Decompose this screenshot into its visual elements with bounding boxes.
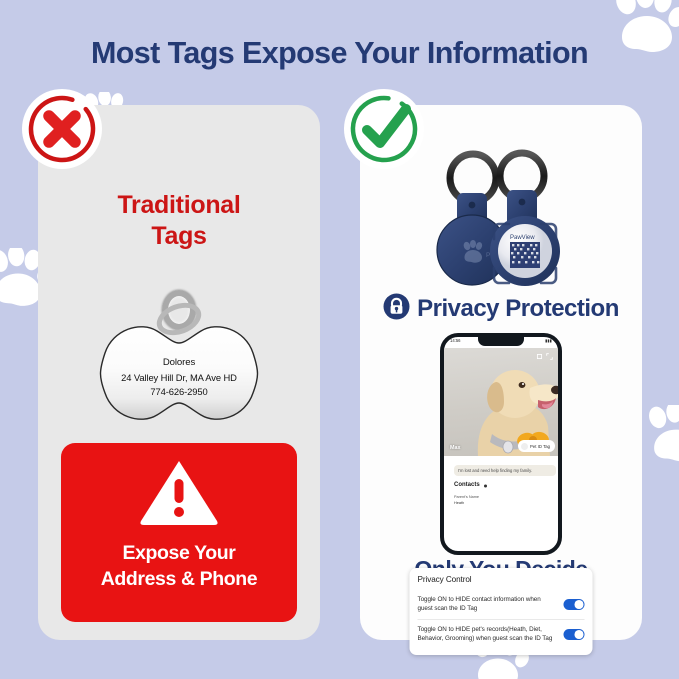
svg-text:PawView: PawView — [510, 235, 535, 241]
hide-pet-records-toggle[interactable] — [564, 629, 585, 641]
share-icon — [536, 353, 543, 360]
contacts-section: Contacts — [454, 482, 488, 488]
expose-warning-line1: Expose Your — [101, 541, 258, 567]
parent-name-label: Parent's Name — [454, 495, 479, 499]
dog-tag-phone: 774-626-2950 — [89, 385, 269, 400]
privacy-control-title: Privacy Control — [418, 575, 585, 584]
phone-notch — [478, 337, 524, 346]
hide-contact-info-toggle[interactable] — [564, 599, 585, 611]
status-icons: ▮▮▮ — [545, 338, 552, 343]
traditional-tags-title-line2: Tags — [38, 221, 320, 252]
traditional-tags-title-line1: Traditional — [38, 190, 320, 221]
expose-warning-text: Expose Your Address & Phone — [101, 541, 258, 593]
pet-name-label: Max — [450, 445, 461, 451]
privacy-protection-heading-text: Privacy Protection — [417, 295, 619, 323]
traditional-tags-panel: Traditional Tags — [38, 105, 320, 640]
pet-id-tag-chip[interactable]: Pet ID Tag — [518, 440, 555, 452]
privacy-control-row[interactable]: Toggle ON to HIDE contact information wh… — [418, 590, 585, 619]
privacy-control-card: Privacy Control Toggle ON to HIDE contac… — [410, 568, 593, 655]
toggle-knob — [574, 630, 583, 639]
page-title: Most Tags Expose Your Information — [0, 36, 679, 71]
expand-icon — [546, 353, 553, 360]
traditional-tags-title: Traditional Tags — [38, 190, 320, 251]
privacy-protection-heading: Privacy Protection — [360, 293, 642, 325]
privacy-control-row-label: Toggle ON to HIDE pet's records(Heath, D… — [418, 625, 558, 644]
chip-avatar — [521, 443, 528, 450]
dog-tag-name: Dolores — [89, 356, 269, 371]
privacy-control-row-label: Toggle ON to HIDE contact information wh… — [418, 595, 558, 614]
pet-id-tag-chip-label: Pet ID Tag — [530, 444, 550, 449]
privacy-control-row[interactable]: Toggle ON to HIDE pet's records(Heath, D… — [418, 619, 585, 649]
paw-small-icon — [483, 483, 488, 488]
dog-tag-address: 24 Valley Hill Dr, MA Ave HD — [89, 371, 269, 386]
status-time: 14:56 — [450, 338, 460, 343]
parent-name-value: Heath — [454, 501, 464, 505]
expose-warning-line2: Address & Phone — [101, 567, 258, 593]
product-keychain-tags: PawView PawView — [360, 143, 642, 303]
warning-triangle-icon — [139, 457, 219, 532]
toggle-knob — [574, 600, 583, 609]
lock-icon — [383, 293, 410, 325]
privacy-protection-panel: PawView PawView — [360, 105, 642, 640]
lost-pet-message: I'm lost and need help finding my family… — [454, 465, 556, 476]
phone-mockup: 14:56 ▮▮▮ — [440, 333, 562, 555]
photo-action-icons[interactable] — [536, 353, 553, 360]
dog-tag-illustration: Dolores 24 Valley Hill Dr, MA Ave HD 774… — [38, 290, 320, 440]
dog-tag-engraving: Dolores 24 Valley Hill Dr, MA Ave HD 774… — [89, 356, 269, 400]
x-mark-badge — [20, 87, 104, 176]
contacts-label: Contacts — [454, 482, 480, 488]
pet-photo: Max Pet ID Tag — [444, 348, 558, 456]
paw-print-icon — [641, 405, 679, 463]
infographic-root: Most Tags Expose Your Information Tradit… — [0, 0, 679, 679]
expose-warning-box: Expose Your Address & Phone — [61, 443, 297, 622]
